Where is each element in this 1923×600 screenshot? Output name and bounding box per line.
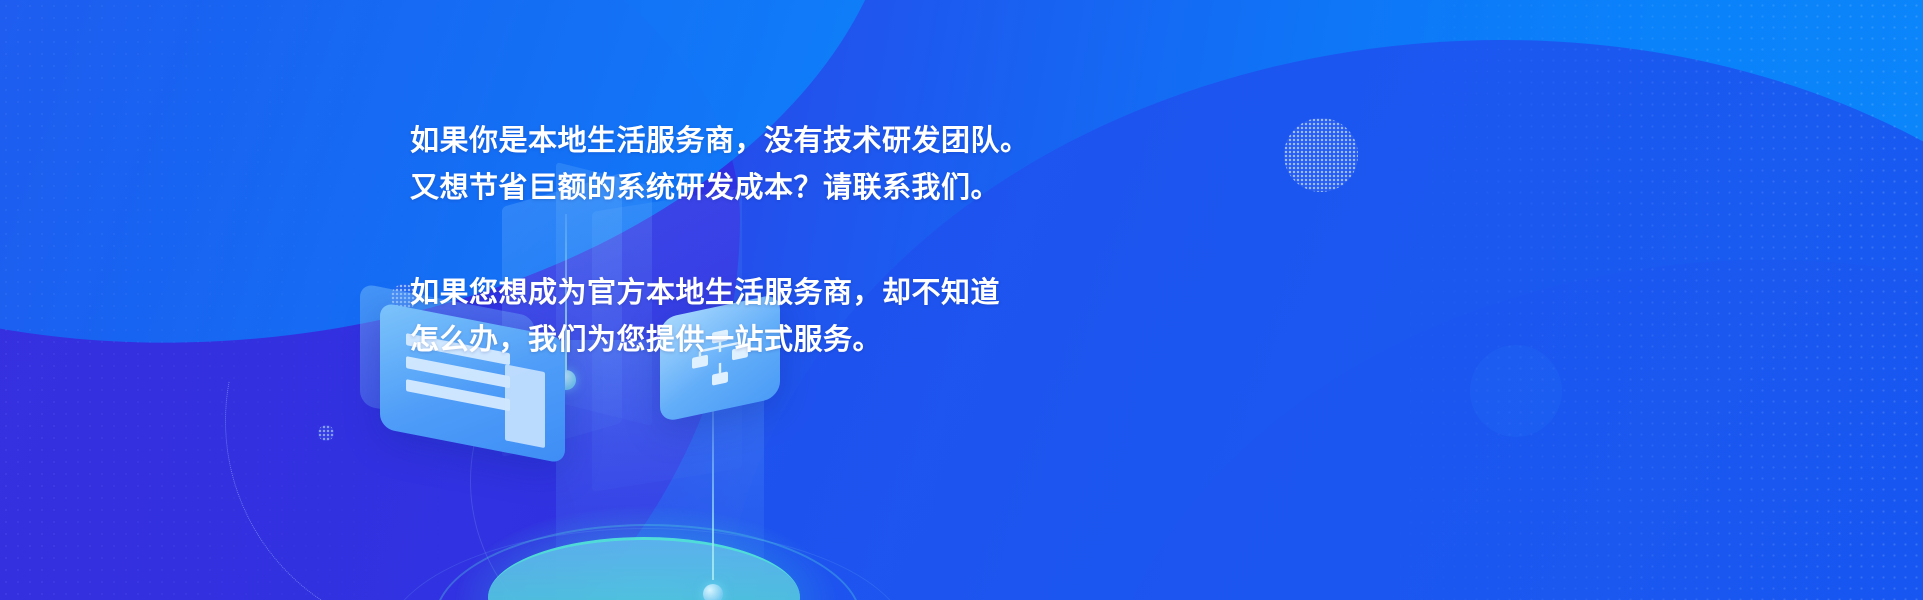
dot-pattern-right [1163, 0, 1923, 600]
banner-copy: 如果你是本地生活服务商，没有技术研发团队。 又想节省巨额的系统研发成本？请联系我… [410, 118, 1150, 364]
bottom-right-wave-back [1093, 260, 1923, 600]
pin-line-icon [712, 394, 714, 580]
paragraph-2: 如果您想成为官方本地生活服务商，却不知道 怎么办，我们为您提供一站式服务。 [410, 270, 1150, 364]
document-side-panel [505, 364, 545, 448]
paragraph-1-line-2: 又想节省巨额的系统研发成本？请联系我们。 [410, 165, 1150, 212]
dot-circle-tiny [318, 425, 334, 441]
soft-circle-decoration [1470, 345, 1562, 437]
paragraph-2-line-1: 如果您想成为官方本地生活服务商，却不知道 [410, 270, 1150, 317]
pin-drop-icon [703, 584, 723, 600]
paragraph-2-line-2: 怎么办，我们为您提供一站式服务。 [410, 317, 1150, 364]
dot-circle-large [1284, 118, 1358, 192]
paragraph-1-line-1: 如果你是本地生活服务商，没有技术研发团队。 [410, 118, 1150, 165]
promo-banner: 如果你是本地生活服务商，没有技术研发团队。 又想节省巨额的系统研发成本？请联系我… [0, 0, 1923, 600]
paragraph-1: 如果你是本地生活服务商，没有技术研发团队。 又想节省巨额的系统研发成本？请联系我… [410, 118, 1150, 212]
